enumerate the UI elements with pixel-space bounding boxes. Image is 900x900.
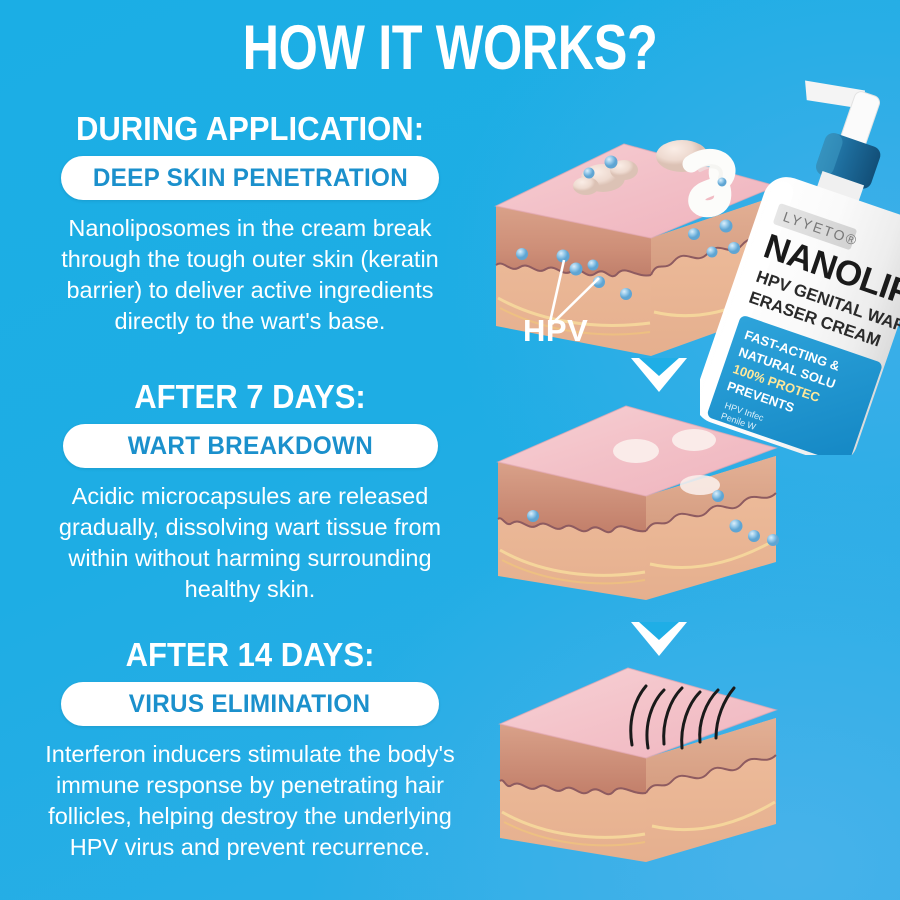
product-bottle-illustration: LYYETO® NANOLIPO HPV GENITAL WART ERASER…: [700, 75, 900, 455]
step-3-badge-label: VIRUS ELIMINATION: [129, 690, 371, 719]
skin-block-3-illustration: [486, 660, 786, 865]
step-2-badge-label: WART BREAKDOWN: [127, 432, 372, 461]
step-1-badge-label: DEEP SKIN PENETRATION: [92, 164, 407, 193]
step-1-stage-label: DURING APPLICATION:: [15, 110, 485, 148]
step-2-badge[interactable]: WART BREAKDOWN: [63, 424, 438, 468]
step-2-block: AFTER 7 DAYS: WART BREAKDOWN Acidic micr…: [0, 378, 500, 605]
step-2-stage-label: AFTER 7 DAYS:: [15, 378, 485, 416]
skin-diagram-stage-3: [486, 660, 786, 865]
step-3-stage-label: AFTER 14 DAYS:: [15, 636, 485, 674]
page-title: HOW IT WORKS?: [90, 12, 810, 84]
step-1-badge[interactable]: DEEP SKIN PENETRATION: [61, 156, 439, 200]
infographic-poster: HOW IT WORKS?: [0, 0, 900, 900]
flow-arrow-2-icon: [631, 622, 687, 656]
hpv-callout-label: HPV: [523, 313, 588, 349]
product-bottle: LYYETO® NANOLIPO HPV GENITAL WART ERASER…: [700, 75, 900, 455]
step-1-block: DURING APPLICATION: DEEP SKIN PENETRATIO…: [0, 110, 500, 337]
step-3-description: Interferon inducers stimulate the body's…: [0, 739, 500, 863]
flow-arrow-1-icon: [631, 358, 687, 392]
step-2-description: Acidic microcapsules are released gradua…: [0, 481, 500, 605]
step-3-badge[interactable]: VIRUS ELIMINATION: [61, 682, 439, 726]
step-1-description: Nanoliposomes in the cream break through…: [0, 213, 500, 337]
step-3-block: AFTER 14 DAYS: VIRUS ELIMINATION Interfe…: [0, 636, 500, 863]
